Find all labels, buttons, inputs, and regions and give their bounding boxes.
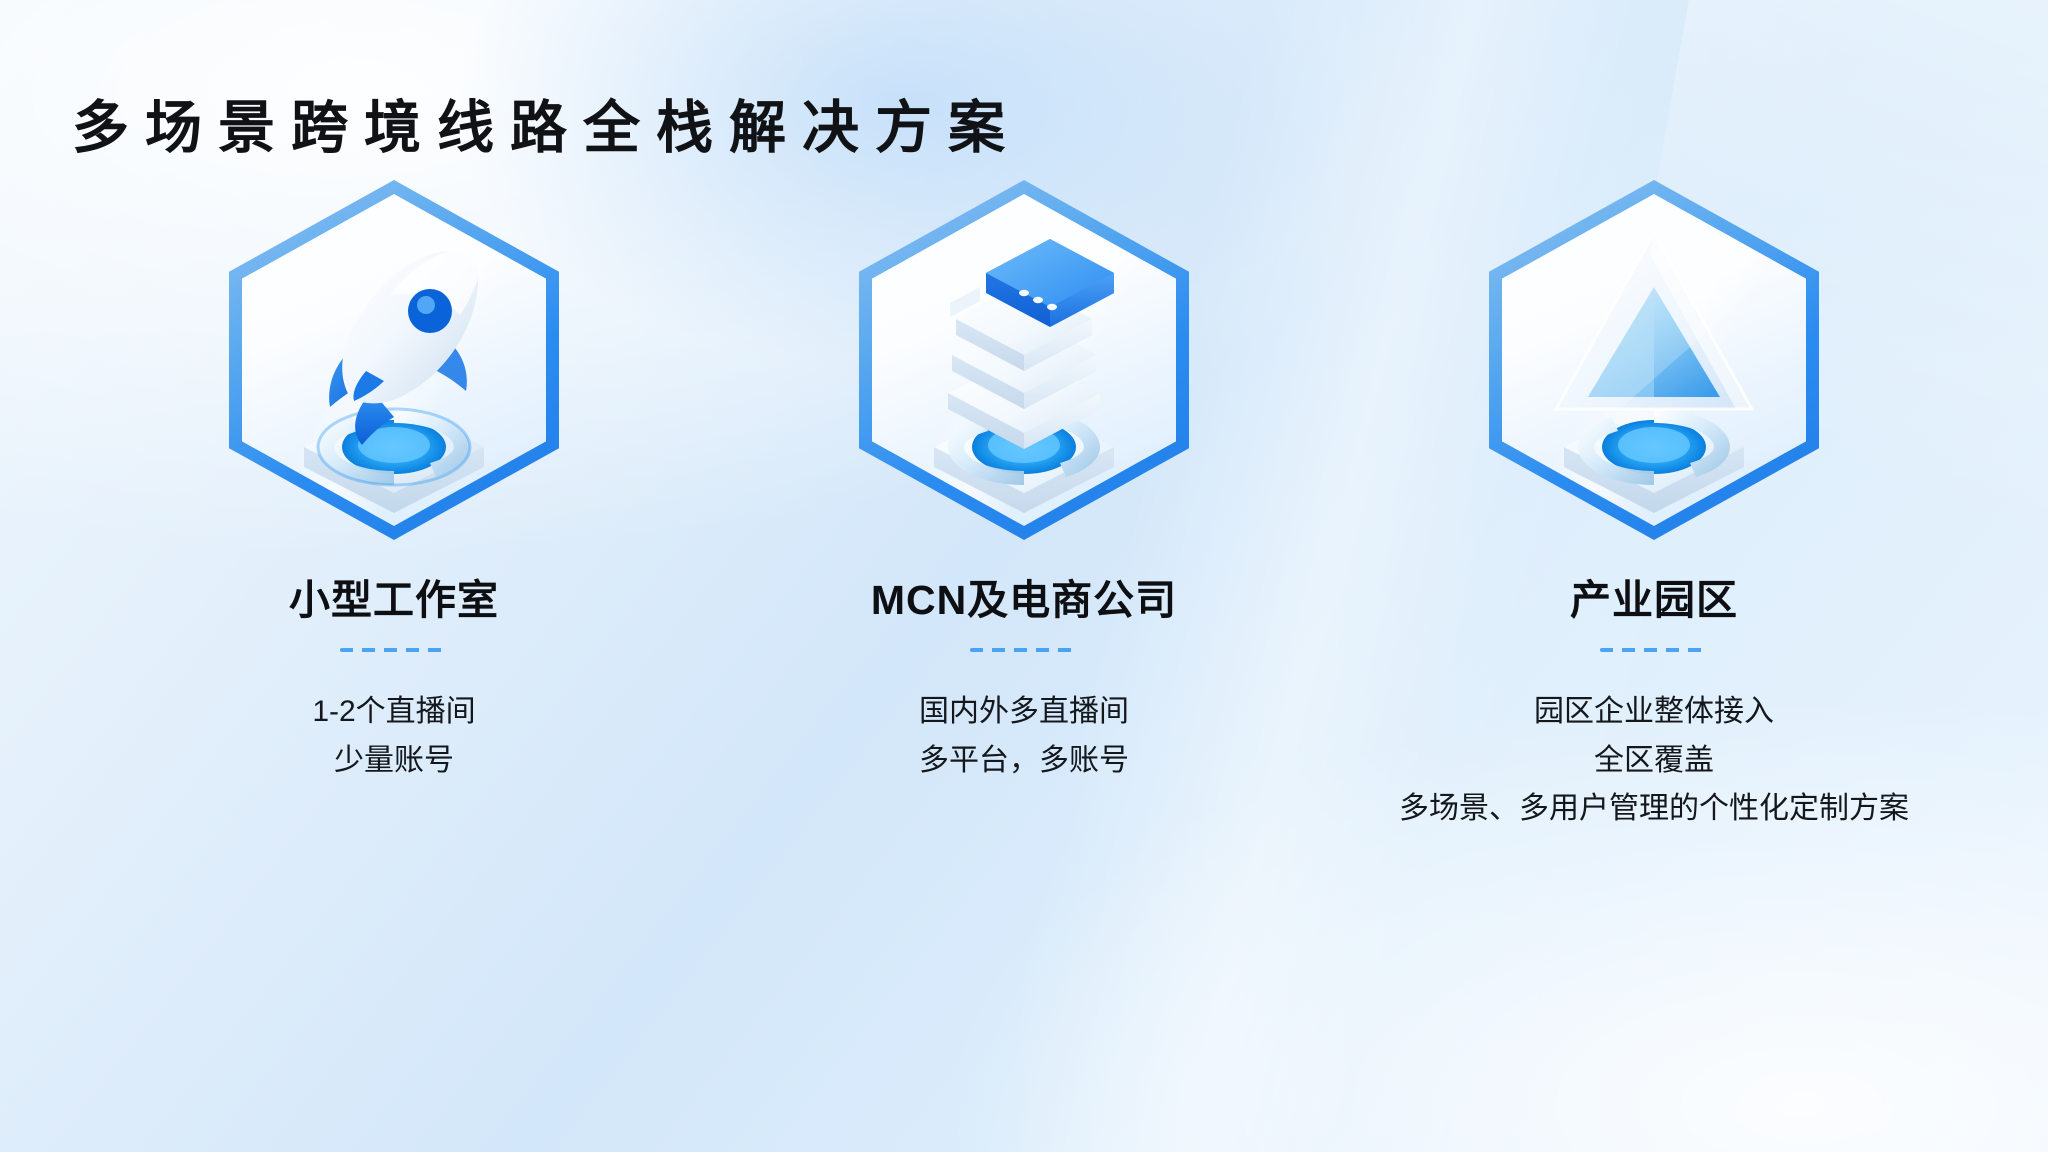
card-body: 国内外多直播间 多平台，多账号 <box>919 688 1129 785</box>
card-mcn-ecommerce[interactable]: MCN及电商公司 国内外多直播间 多平台，多账号 <box>709 180 1339 785</box>
card-industrial-park[interactable]: 产业园区 园区企业整体接入 全区覆盖 多场景、多用户管理的个性化定制方案 <box>1339 180 1969 834</box>
card-body-line: 国内外多直播间 <box>919 688 1129 737</box>
server-stack-icon <box>874 195 1174 525</box>
card-divider <box>970 648 1078 652</box>
card-body-line: 全区覆盖 <box>1399 737 1909 786</box>
card-body: 1-2个直播间 少量账号 <box>312 688 475 785</box>
hexagon-badge-rocket <box>229 180 559 540</box>
pyramid-icon <box>1504 195 1804 525</box>
card-title: 产业园区 <box>1570 566 1738 626</box>
card-body: 园区企业整体接入 全区覆盖 多场景、多用户管理的个性化定制方案 <box>1399 688 1909 834</box>
card-title: MCN及电商公司 <box>871 566 1177 626</box>
card-divider <box>340 648 448 652</box>
page-title: 多场景跨境线路全栈解决方案 <box>72 93 1021 164</box>
card-small-studio[interactable]: 小型工作室 1-2个直播间 少量账号 <box>79 180 709 785</box>
card-body-line: 多平台，多账号 <box>919 737 1129 786</box>
card-title: 小型工作室 <box>289 566 499 626</box>
card-body-line: 园区企业整体接入 <box>1399 688 1909 737</box>
card-body-line: 少量账号 <box>312 737 475 786</box>
card-body-line: 1-2个直播间 <box>312 688 475 737</box>
card-divider <box>1600 648 1708 652</box>
hexagon-badge-server <box>859 180 1189 540</box>
rocket-icon <box>244 195 544 525</box>
hexagon-badge-pyramid <box>1489 180 1819 540</box>
card-body-line: 多场景、多用户管理的个性化定制方案 <box>1399 785 1909 834</box>
solution-cards-row: 小型工作室 1-2个直播间 少量账号 <box>0 180 2048 834</box>
